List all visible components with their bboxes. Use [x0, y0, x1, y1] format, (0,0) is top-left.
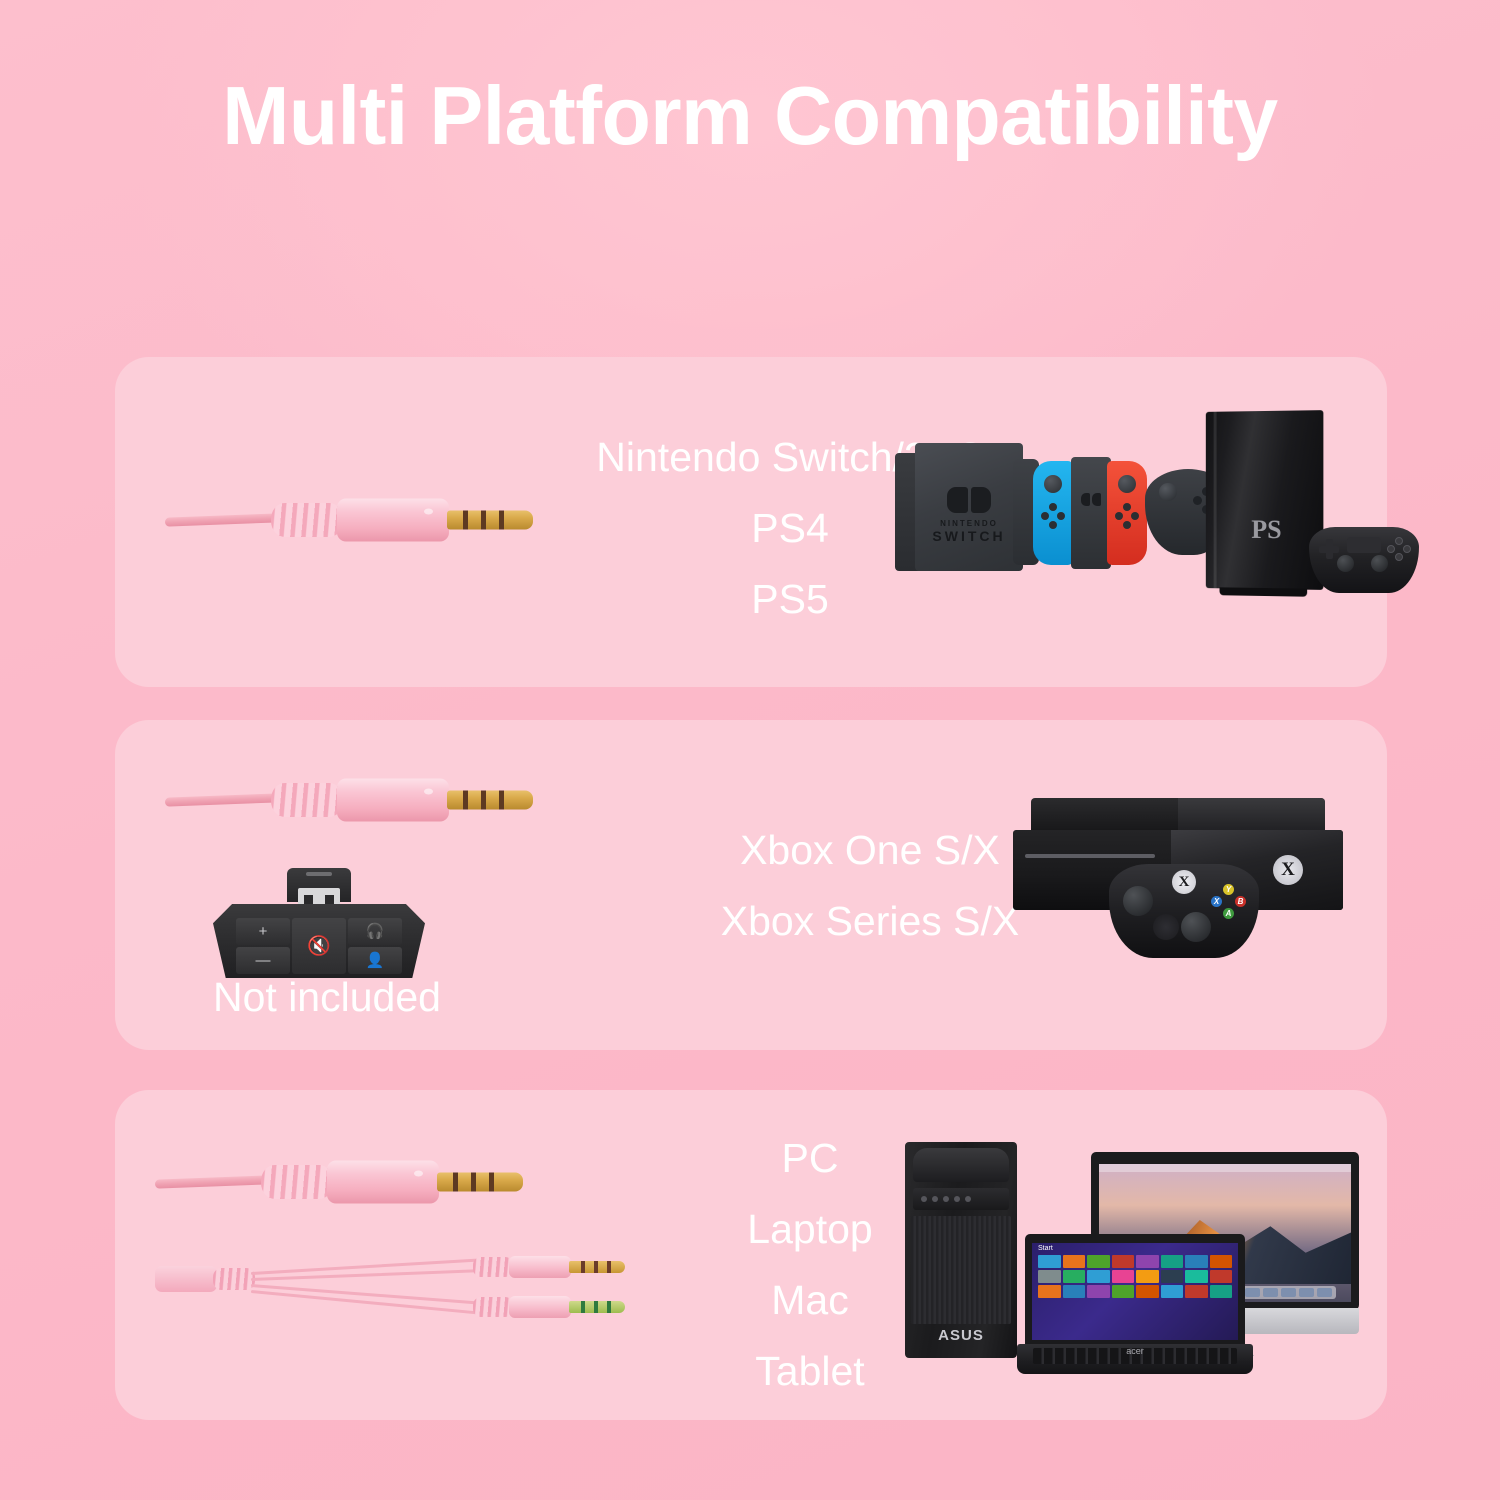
dualshock-4-controller	[1309, 527, 1419, 593]
windows-start-label: Start	[1038, 1245, 1053, 1252]
cable-wire	[165, 513, 280, 526]
playstation-4-illustration: PS	[1205, 411, 1435, 611]
jack-gold-pin	[447, 511, 533, 530]
jack-gold-pin	[447, 791, 533, 810]
abxy-buttons-icon: YXBA	[1213, 886, 1245, 918]
audio-jack-connector	[165, 490, 535, 550]
voice-volume-button[interactable]: 👤	[348, 947, 402, 974]
jack-gold-pin	[437, 1173, 523, 1192]
volume-down-button[interactable]: —	[236, 947, 290, 974]
joycon-buttons-icon	[1041, 503, 1065, 529]
xbox-compatibility-panel: + — 🔇 🎧 👤 Not included Xbox One S/X Xbox…	[115, 720, 1387, 1050]
audio-jack-connector	[155, 1152, 525, 1212]
left-stick-icon	[1123, 886, 1153, 916]
windows-tiles	[1038, 1255, 1232, 1334]
touchpad-icon	[1347, 537, 1381, 553]
jack-barrel	[327, 1161, 439, 1204]
jack-barrel	[337, 499, 449, 542]
volume-up-button[interactable]: +	[236, 918, 290, 945]
platform-label-ps5: PS5	[555, 579, 1025, 620]
ps4-base	[1220, 587, 1308, 596]
right-stick-icon	[1371, 555, 1388, 572]
cable-strain-relief	[271, 783, 343, 817]
joycon-stick-icon	[1044, 475, 1062, 493]
xbox-one-controller: X YXBA	[1109, 864, 1259, 958]
cable-wire	[155, 1175, 270, 1188]
console-top-shell	[1031, 798, 1325, 832]
splitter-mic-plug	[473, 1254, 633, 1280]
xbox-guide-button-icon: X	[1172, 870, 1196, 894]
headphone-volume-button[interactable]: 🎧	[348, 918, 402, 945]
right-stick-icon	[1181, 912, 1211, 942]
computer-devices-illustration:  ASUS Start	[905, 1142, 1375, 1372]
playstation-logo-icon: PS	[1251, 515, 1281, 545]
face-buttons-icon	[1388, 538, 1410, 560]
splitter-headphone-plug	[473, 1294, 633, 1320]
dpad-icon	[1153, 914, 1179, 940]
ps4-console-tower: PS	[1206, 410, 1324, 590]
joycon-red	[1107, 461, 1147, 565]
tower-front-ports	[913, 1188, 1009, 1210]
switch-brand-top: NINTENDO	[940, 519, 998, 528]
jack-barrel	[337, 779, 449, 822]
page-title: Multi Platform Compatibility	[23, 68, 1478, 164]
splitter-strain-relief	[213, 1268, 255, 1290]
macos-menubar	[1099, 1164, 1351, 1172]
console-compatibility-panel: Nintendo Switch/3DS PS4 PS5 NINTENDO SWI…	[115, 357, 1387, 687]
pro-stick-icon	[1159, 483, 1177, 501]
switch-handheld-body	[1071, 457, 1111, 569]
joycon-blue	[1033, 461, 1073, 565]
dpad-icon	[1319, 539, 1339, 559]
disc-slot	[1025, 854, 1155, 858]
mic-mute-button[interactable]: 🔇	[292, 918, 346, 974]
cable-wire	[165, 793, 280, 806]
switch-console-screen: NINTENDO SWITCH	[915, 443, 1023, 571]
not-included-note: Not included	[213, 974, 441, 1021]
pc-compatibility-panel: PC Laptop Mac Tablet 	[115, 1090, 1387, 1420]
left-stick-icon	[1337, 555, 1354, 572]
xbox-console-illustration: X X YXBA	[1013, 798, 1353, 978]
switch-brand-bottom: SWITCH	[915, 528, 1023, 544]
joycon-buttons-icon	[1115, 503, 1139, 529]
laptop-brand-logo: acer	[1126, 1346, 1144, 1356]
nintendo-switch-illustration: NINTENDO SWITCH	[895, 435, 1245, 585]
switch-logo-icon	[947, 487, 991, 513]
laptop-computer: Start acer	[1017, 1234, 1253, 1374]
laptop-screen: Start	[1032, 1243, 1238, 1340]
desktop-tower-pc: ASUS	[905, 1142, 1017, 1358]
y-splitter-cable	[155, 1232, 655, 1342]
joycon-stick-icon	[1118, 475, 1136, 493]
tower-brand-logo: ASUS	[905, 1327, 1017, 1344]
audio-jack-connector	[165, 770, 535, 830]
xbox-headset-adapter: + — 🔇 🎧 👤	[213, 868, 425, 978]
switch-small-logo-icon	[1081, 493, 1101, 506]
splitter-female-socket	[155, 1266, 217, 1292]
cable-strain-relief	[261, 1165, 333, 1199]
tower-vent	[913, 1148, 1009, 1182]
tower-brushed-panel	[911, 1216, 1011, 1324]
cable-strain-relief	[271, 503, 343, 537]
xbox-logo-icon: X	[1273, 855, 1303, 885]
laptop-lid: Start	[1025, 1234, 1245, 1346]
adapter-button-cluster: + — 🔇 🎧 👤	[213, 918, 425, 974]
switch-brand-text: NINTENDO SWITCH	[915, 519, 1023, 544]
